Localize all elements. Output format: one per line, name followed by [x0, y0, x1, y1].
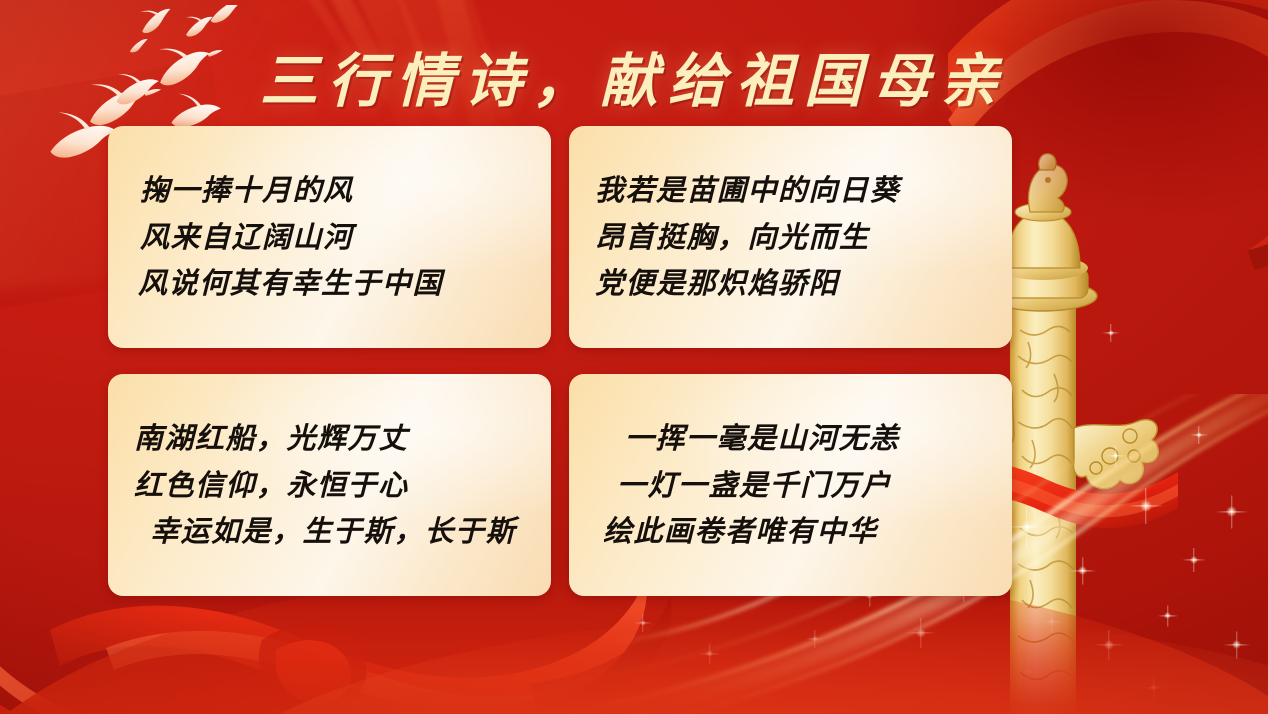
poem-line: 我若是苗圃中的向日葵	[595, 167, 986, 214]
poem-line: 幸运如是，生于斯，长于斯	[134, 508, 525, 555]
poem-card-2[interactable]: 我若是苗圃中的向日葵 昂首挺胸，向光而生 党便是那炽焰骄阳	[569, 126, 1012, 348]
poem-line: 风说何其有幸生于中国	[138, 260, 525, 307]
poem-line: 昂首挺胸，向光而生	[595, 214, 986, 261]
poem-text-3: 南湖红船，光辉万丈 红色信仰，永恒于心 幸运如是，生于斯，长于斯	[108, 415, 551, 556]
poem-line: 红色信仰，永恒于心	[134, 462, 525, 509]
poem-line: 南湖红船，光辉万丈	[134, 415, 525, 462]
poem-card-1[interactable]: 掬一捧十月的风 风来自辽阔山河 风说何其有幸生于中国	[108, 126, 551, 348]
poem-line: 一灯一盏是千门万户	[603, 462, 986, 509]
poster-canvas: 三行情诗，献给祖国母亲 掬一捧十月的风 风来自辽阔山河 风说何其有幸生于中国 我…	[0, 0, 1268, 714]
page-title: 三行情诗，献给祖国母亲	[0, 34, 1268, 118]
poem-line: 风来自辽阔山河	[138, 214, 525, 261]
poem-card-4[interactable]: 一挥一毫是山河无恙 一灯一盏是千门万户 绘此画卷者唯有中华	[569, 374, 1012, 596]
poem-line: 掬一捧十月的风	[138, 167, 525, 214]
poem-text-2: 我若是苗圃中的向日葵 昂首挺胸，向光而生 党便是那炽焰骄阳	[569, 167, 1012, 308]
poem-text-4: 一挥一毫是山河无恙 一灯一盏是千门万户 绘此画卷者唯有中华	[569, 415, 1012, 556]
poem-line: 绘此画卷者唯有中华	[603, 508, 986, 555]
poem-card-3[interactable]: 南湖红船，光辉万丈 红色信仰，永恒于心 幸运如是，生于斯，长于斯	[108, 374, 551, 596]
poem-text-1: 掬一捧十月的风 风来自辽阔山河 风说何其有幸生于中国	[108, 167, 551, 308]
poem-line: 党便是那炽焰骄阳	[595, 260, 986, 307]
poem-line: 一挥一毫是山河无恙	[603, 415, 986, 462]
poem-card-grid: 掬一捧十月的风 风来自辽阔山河 风说何其有幸生于中国 我若是苗圃中的向日葵 昂首…	[108, 126, 1012, 596]
